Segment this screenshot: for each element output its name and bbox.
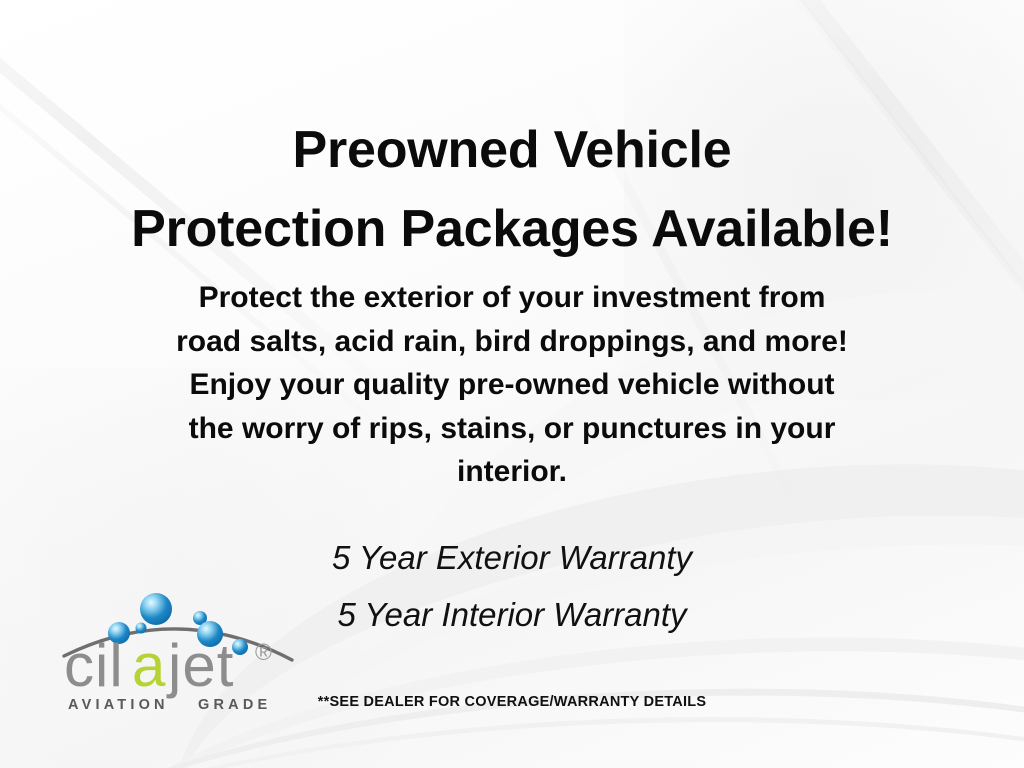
logo-wordmark-cil: cil [64, 632, 124, 699]
body-line-1: Protect the exterior of your investment … [0, 276, 1024, 320]
cilajet-logo-icon: cil a jet ® AVIATION GRADE [58, 582, 298, 714]
body-line-5: interior. [0, 450, 1024, 494]
bubble-icon [232, 639, 248, 655]
body-line-4: the worry of rips, stains, or punctures … [0, 407, 1024, 451]
logo-wordmark-jet: jet [166, 632, 234, 699]
cilajet-logo: cil a jet ® AVIATION GRADE [58, 582, 298, 714]
logo-wordmark-a: a [132, 632, 166, 699]
slide-canvas: Preowned Vehicle Protection Packages Ava… [0, 0, 1024, 768]
body-line-3: Enjoy your quality pre-owned vehicle wit… [0, 363, 1024, 407]
registered-trademark-icon: ® [255, 639, 272, 665]
headline-line-1: Preowned Vehicle [0, 111, 1024, 190]
headline-line-2: Protection Packages Available! [0, 190, 1024, 269]
warranty-exterior: 5 Year Exterior Warranty [0, 530, 1024, 587]
bubble-icon [140, 593, 172, 625]
logo-tagline-aviation: AVIATION [68, 697, 169, 713]
body-line-2: road salts, acid rain, bird droppings, a… [0, 320, 1024, 364]
slide-content: Preowned Vehicle Protection Packages Ava… [0, 0, 1024, 768]
page-title: Preowned Vehicle Protection Packages Ava… [0, 111, 1024, 269]
body-copy: Protect the exterior of your investment … [0, 276, 1024, 494]
logo-tagline-grade: GRADE [198, 697, 271, 713]
